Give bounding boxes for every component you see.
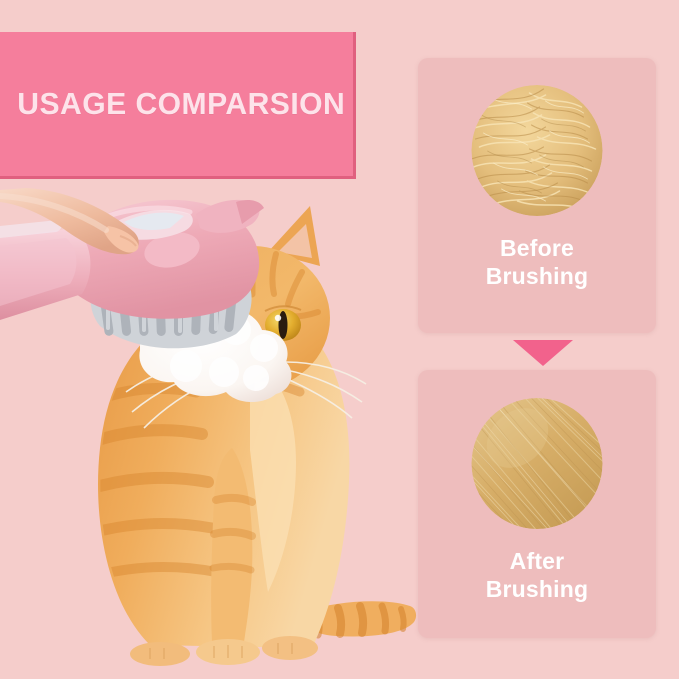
page-title: USAGE COMPARSION xyxy=(0,86,345,122)
comparison-card-after: After Brushing xyxy=(418,370,656,638)
comparison-card-before: Before Brushing xyxy=(418,58,656,333)
infographic-canvas: USAGE COMPARSION xyxy=(0,0,679,679)
label-line-1: After xyxy=(510,548,565,574)
grooming-brush xyxy=(0,200,264,348)
triangle-down-icon xyxy=(513,340,573,366)
fur-swatch-smooth xyxy=(472,398,603,529)
card-label-before: Before Brushing xyxy=(418,234,656,290)
fur-swatch-messy xyxy=(472,85,603,216)
label-line-1: Before xyxy=(500,235,574,261)
title-banner: USAGE COMPARSION xyxy=(0,32,356,179)
card-label-after: After Brushing xyxy=(418,547,656,603)
label-line-2: Brushing xyxy=(486,263,589,289)
label-line-2: Brushing xyxy=(486,576,589,602)
